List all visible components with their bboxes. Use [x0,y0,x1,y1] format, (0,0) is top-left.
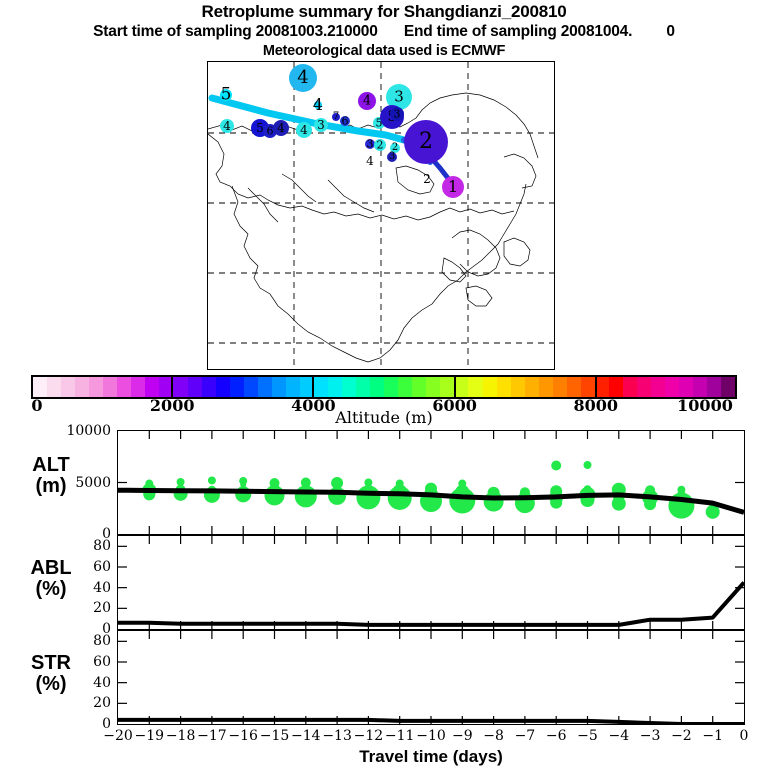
colorbar-swatch [440,377,454,397]
colorbar-swatch [693,377,707,397]
abl-y-tick-label: 80 [40,538,111,554]
colorbar-swatch [398,377,412,397]
abl-y-tick-label: 20 [40,600,111,616]
x-tick-label: −6 [546,728,567,744]
map-cluster-marker [289,64,317,92]
x-tick-label: −19 [135,728,165,744]
map-cluster-marker [332,113,340,121]
colorbar-swatch [286,377,300,397]
colorbar-swatch [230,377,244,397]
colorbar-swatch [244,377,258,397]
altitude-colorbar [31,375,737,399]
colorbar-swatch [33,377,47,397]
abl-line [118,583,744,625]
colorbar-swatch [384,377,398,397]
x-tick-label: −5 [577,728,598,744]
colorbar-swatch [47,377,61,397]
colorbar-swatch [314,377,328,397]
colorbar-swatch [131,377,145,397]
abl-y-tick-label: 60 [40,559,111,575]
map-cluster-marker [296,122,312,138]
colorbar-swatch [103,377,117,397]
x-axis-title: Travel time (days) [117,747,745,767]
page-title: Retroplume summary for Shangdianzi_20081… [0,2,768,22]
alt-panel-graphics [118,431,744,534]
map-cluster-marker [220,89,232,101]
end-time-value: 0 [666,23,674,40]
x-tick-label: −16 [228,728,258,744]
colorbar-swatch [553,377,567,397]
sampling-time-line: Start time of sampling 20081003.210000 E… [0,22,768,42]
colorbar-swatch [216,377,230,397]
end-time-label: End time of sampling 20081004. [404,23,632,40]
x-tick-label: −3 [640,728,661,744]
colorbar-swatch [117,377,131,397]
alt-y-tick-label: 10000 [40,423,111,439]
colorbar-swatch [61,377,75,397]
colorbar-swatch [623,377,637,397]
colorbar-swatch [581,377,595,397]
colorbar-swatch [370,377,384,397]
x-tick-label: −2 [671,728,692,744]
colorbar-swatch [173,377,187,397]
map-cluster-marker [340,116,350,126]
x-tick-label: −8 [483,728,504,744]
colorbar-swatch [202,377,216,397]
map-cluster-marker [314,101,322,109]
title-block: Retroplume summary for Shangdianzi_20081… [0,2,768,60]
colorbar-swatch [75,377,89,397]
x-tick-label: −14 [291,728,321,744]
colorbar-swatch [426,377,440,397]
colorbar-swatch [637,377,651,397]
colorbar-swatch [721,377,735,397]
x-tick-label: −9 [452,728,473,744]
colorbar-swatch [328,377,342,397]
alt-label-line1: ALT [8,455,94,476]
str-panel-graphics [118,631,744,724]
colorbar-swatch [651,377,665,397]
colorbar-swatch [511,377,525,397]
colorbar-swatch [707,377,721,397]
x-tick-label: −18 [166,728,196,744]
map-cluster-marker [390,107,404,121]
map-cluster-marker [358,92,376,110]
colorbar-swatch [567,377,581,397]
abl-y-tick-label: 40 [40,580,111,596]
colorbar-swatch [272,377,286,397]
map-cluster-marker [220,119,234,133]
str-panel [117,630,745,725]
str-y-tick-label: 80 [40,633,111,649]
colorbar-swatch [89,377,103,397]
str-y-tick-label: 20 [40,695,111,711]
colorbar-swatch [468,377,482,397]
abl-panel [117,535,745,630]
map-cluster-marker [273,120,289,136]
x-tick-label: −15 [260,728,290,744]
x-tick-label: −17 [197,728,227,744]
colorbar-swatch [497,377,511,397]
map-graphics [208,62,554,369]
x-tick-label: −4 [608,728,629,744]
colorbar-swatch [679,377,693,397]
colorbar-swatch [665,377,679,397]
x-tick-label: −12 [354,728,384,744]
altitude-panel [117,430,745,535]
colorbar-swatch [609,377,623,397]
abl-tick-marks [118,536,744,629]
map-cluster-marker [314,118,328,132]
map-cluster-marker [442,176,464,198]
colorbar-swatch [539,377,553,397]
colorbar-swatch [258,377,272,397]
colorbar-axis-title: Altitude (m) [0,408,768,427]
retroplume-map: 544456443764355332232421 [207,61,555,370]
colorbar-swatch [454,377,468,397]
str-tick-marks [118,631,744,724]
colorbar-swatch [342,377,356,397]
alt-y-tick-label: 5000 [40,475,111,491]
abl-panel-graphics [118,536,744,629]
str-y-tick-label: 40 [40,675,111,691]
map-cluster-marker [374,139,386,151]
start-time-label: Start time of sampling 20081003.210000 [93,23,377,40]
x-tick-label: −11 [385,728,415,744]
colorbar-swatch [188,377,202,397]
met-data-label: Meteorological data used is ECMWF [0,42,768,60]
str-y-tick-label: 0 [40,716,111,732]
x-tick-label: −1 [702,728,723,744]
colorbar-swatch [595,377,609,397]
str-y-tick-label: 60 [40,654,111,670]
colorbar-swatch [412,377,426,397]
x-tick-label: −10 [416,728,446,744]
x-tick-label: −20 [103,728,133,744]
colorbar-swatches [31,375,737,399]
x-tick-label: −13 [322,728,352,744]
colorbar-swatch [483,377,497,397]
colorbar-swatch [525,377,539,397]
x-tick-label: 0 [740,728,749,744]
map-cluster-marker [387,152,397,162]
colorbar-swatch [145,377,159,397]
map-cluster-marker [404,120,448,164]
x-tick-label: −7 [515,728,536,744]
colorbar-swatch [356,377,370,397]
